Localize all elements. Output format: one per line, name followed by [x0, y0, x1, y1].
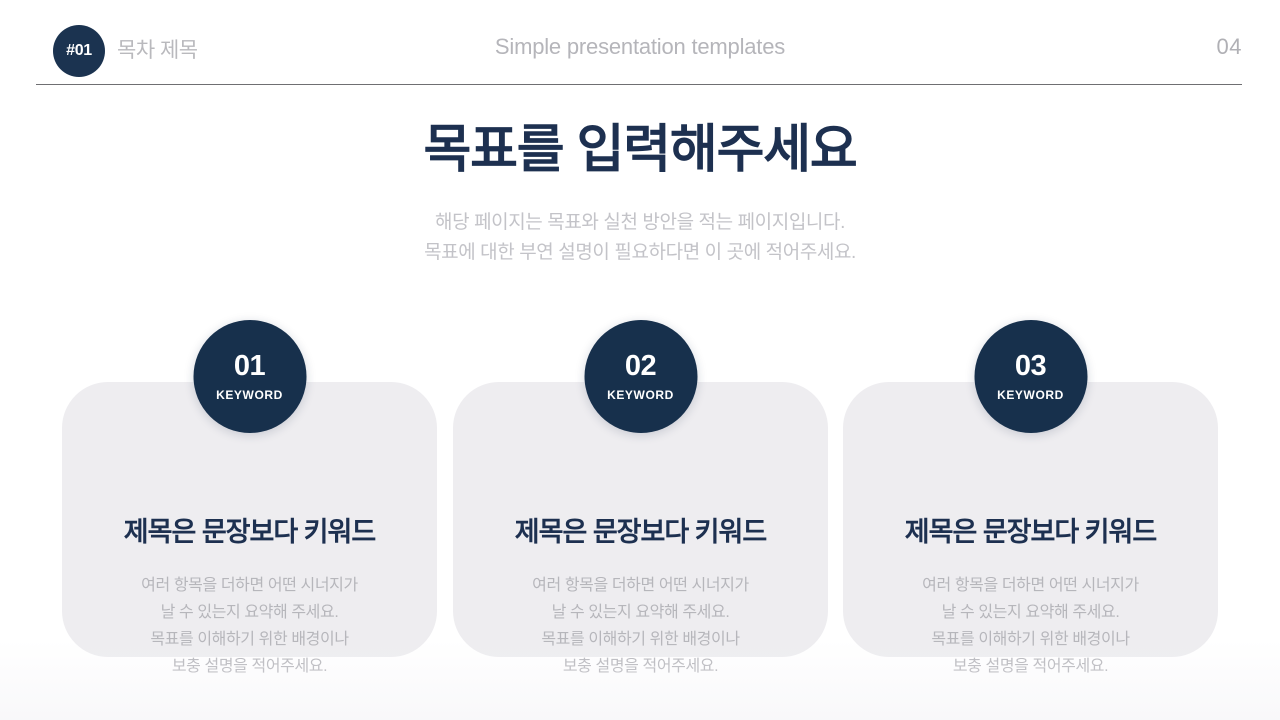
card-heading: 제목은 문장보다 키워드 [453, 510, 828, 549]
card-body-line-1: 여러 항목을 더하면 어떤 시너지가 [843, 572, 1218, 599]
card-body-line-1: 여러 항목을 더하면 어떤 시너지가 [453, 572, 828, 599]
card-heading: 제목은 문장보다 키워드 [62, 510, 437, 549]
card-body-line-1: 여러 항목을 더하면 어떤 시너지가 [62, 572, 437, 599]
keyword-card[interactable]: 제목은 문장보다 키워드 여러 항목을 더하면 어떤 시너지가 날 수 있는지 … [453, 320, 828, 660]
card-body-line-4: 보충 설명을 적어주세요. [453, 653, 828, 680]
keyword-card[interactable]: 제목은 문장보다 키워드 여러 항목을 더하면 어떤 시너지가 날 수 있는지 … [62, 320, 437, 660]
card-body-line-4: 보충 설명을 적어주세요. [843, 653, 1218, 680]
card-body-line-2: 날 수 있는지 요약해 주세요. [62, 599, 437, 626]
card-body-line-3: 목표를 이해하기 위한 배경이나 [453, 626, 828, 653]
card-body-line-4: 보충 설명을 적어주세요. [62, 653, 437, 680]
card-keyword-label: KEYWORD [997, 388, 1064, 402]
card-body-line-2: 날 수 있는지 요약해 주세요. [843, 599, 1218, 626]
card-body: 여러 항목을 더하면 어떤 시너지가 날 수 있는지 요약해 주세요. 목표를 … [843, 572, 1218, 680]
card-number: 02 [625, 352, 656, 381]
card-body-line-2: 날 수 있는지 요약해 주세요. [453, 599, 828, 626]
card-number: 03 [1015, 352, 1046, 381]
card-body-line-3: 목표를 이해하기 위한 배경이나 [843, 626, 1218, 653]
card-number-badge: 02 KEYWORD [584, 320, 697, 433]
keyword-card-group: 제목은 문장보다 키워드 여러 항목을 더하면 어떤 시너지가 날 수 있는지 … [0, 0, 1280, 720]
card-heading: 제목은 문장보다 키워드 [843, 510, 1218, 549]
card-number-badge: 03 KEYWORD [974, 320, 1087, 433]
card-body-line-3: 목표를 이해하기 위한 배경이나 [62, 626, 437, 653]
card-body: 여러 항목을 더하면 어떤 시너지가 날 수 있는지 요약해 주세요. 목표를 … [62, 572, 437, 680]
card-body: 여러 항목을 더하면 어떤 시너지가 날 수 있는지 요약해 주세요. 목표를 … [453, 572, 828, 680]
card-keyword-label: KEYWORD [607, 388, 674, 402]
card-number-badge: 01 KEYWORD [193, 320, 306, 433]
card-keyword-label: KEYWORD [216, 388, 283, 402]
card-number: 01 [234, 352, 265, 381]
keyword-card[interactable]: 제목은 문장보다 키워드 여러 항목을 더하면 어떤 시너지가 날 수 있는지 … [843, 320, 1218, 660]
